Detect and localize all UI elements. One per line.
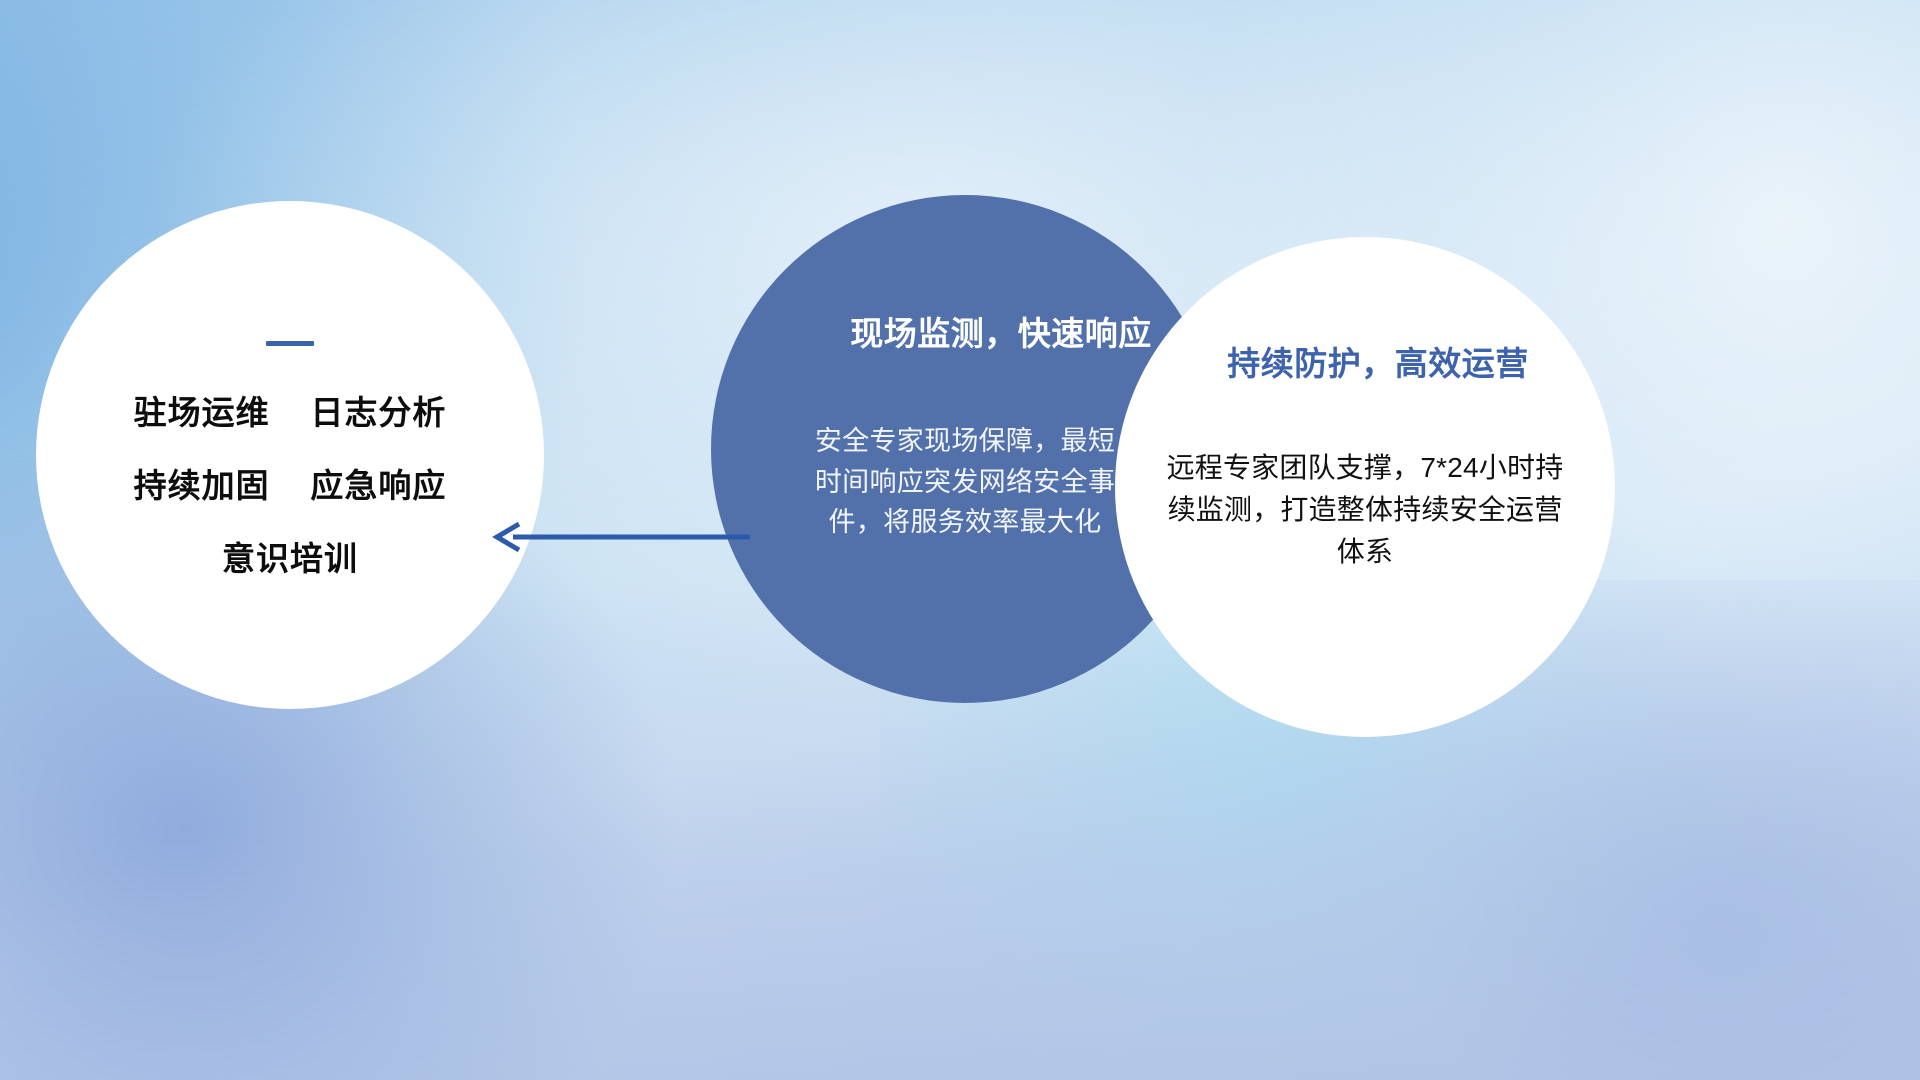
divider-rule [266, 341, 314, 346]
capability-line-3: 意识培训 [222, 542, 358, 575]
capability-line-1: 驻场运维 日志分析 [134, 396, 447, 429]
onsite-monitoring-title: 现场监测，快速响应 [850, 307, 1152, 355]
onsite-monitoring-body: 安全专家现场保障，最短时间响应突发网络安全事件，将服务效率最大化 [813, 421, 1118, 543]
continuous-protection-body: 远程专家团队支撑，7*24小时持续监测，打造整体持续安全运营体系 [1156, 447, 1574, 573]
continuous-protection-title: 持续防护，高效运营 [1227, 337, 1529, 385]
continuous-protection-content: 持续防护，高效运营 远程专家团队支撑，7*24小时持续监测，打造整体持续安全运营… [1115, 237, 1615, 737]
capability-line-2: 持续加固 应急响应 [134, 469, 447, 502]
circle-continuous-protection: 持续防护，高效运营 远程专家团队支撑，7*24小时持续监测，打造整体持续安全运营… [1115, 237, 1615, 737]
slide-canvas: 驻场运维 日志分析 持续加固 应急响应 意识培训 现场监测，快速响应 安全专家现… [0, 0, 1920, 1080]
arrow-left-icon [485, 520, 755, 554]
capabilities-content: 驻场运维 日志分析 持续加固 应急响应 意识培训 [36, 201, 544, 709]
circle-capabilities: 驻场运维 日志分析 持续加固 应急响应 意识培训 [36, 201, 544, 709]
